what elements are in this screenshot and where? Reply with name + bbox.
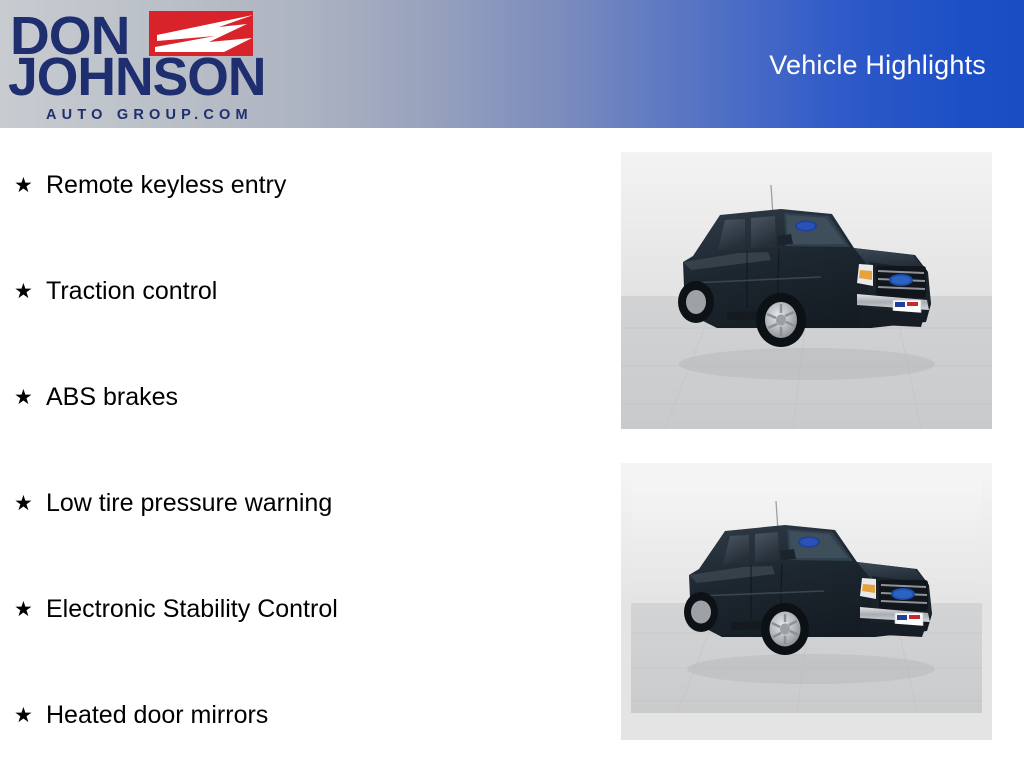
- feature-label: ABS brakes: [46, 385, 178, 410]
- star-bullet-icon: ★: [14, 387, 46, 408]
- feature-item: ★Traction control: [14, 274, 217, 308]
- feature-item: ★ABS brakes: [14, 380, 178, 414]
- vehicle-features-list: ★Remote keyless entry★Traction control★A…: [0, 128, 600, 768]
- feature-label: Traction control: [46, 279, 217, 304]
- feature-label: Electronic Stability Control: [46, 597, 338, 622]
- dealer-logo[interactable]: DON JOHNSON AUTO GROUP.COM: [8, 4, 258, 128]
- feature-label: Low tire pressure warning: [46, 491, 332, 516]
- feature-item: ★Electronic Stability Control: [14, 592, 338, 626]
- star-bullet-icon: ★: [14, 175, 46, 196]
- vehicle-photo-front-three-quarter-2[interactable]: [621, 463, 992, 740]
- header-bar: DON JOHNSON AUTO GROUP.COM Vehicle Highl…: [0, 0, 1024, 128]
- page-title: Vehicle Highlights: [769, 50, 986, 81]
- feature-item: ★Remote keyless entry: [14, 168, 286, 202]
- star-bullet-icon: ★: [14, 493, 46, 514]
- feature-label: Heated door mirrors: [46, 703, 268, 728]
- feature-item: ★Low tire pressure warning: [14, 486, 332, 520]
- feature-item: ★Heated door mirrors: [14, 698, 268, 732]
- star-bullet-icon: ★: [14, 281, 46, 302]
- logo-text-johnson: JOHNSON: [8, 50, 265, 104]
- logo-tagline: AUTO GROUP.COM: [46, 107, 253, 123]
- star-bullet-icon: ★: [14, 705, 46, 726]
- star-bullet-icon: ★: [14, 599, 46, 620]
- vehicle-photo-front-three-quarter-1[interactable]: [621, 152, 992, 429]
- feature-label: Remote keyless entry: [46, 173, 286, 198]
